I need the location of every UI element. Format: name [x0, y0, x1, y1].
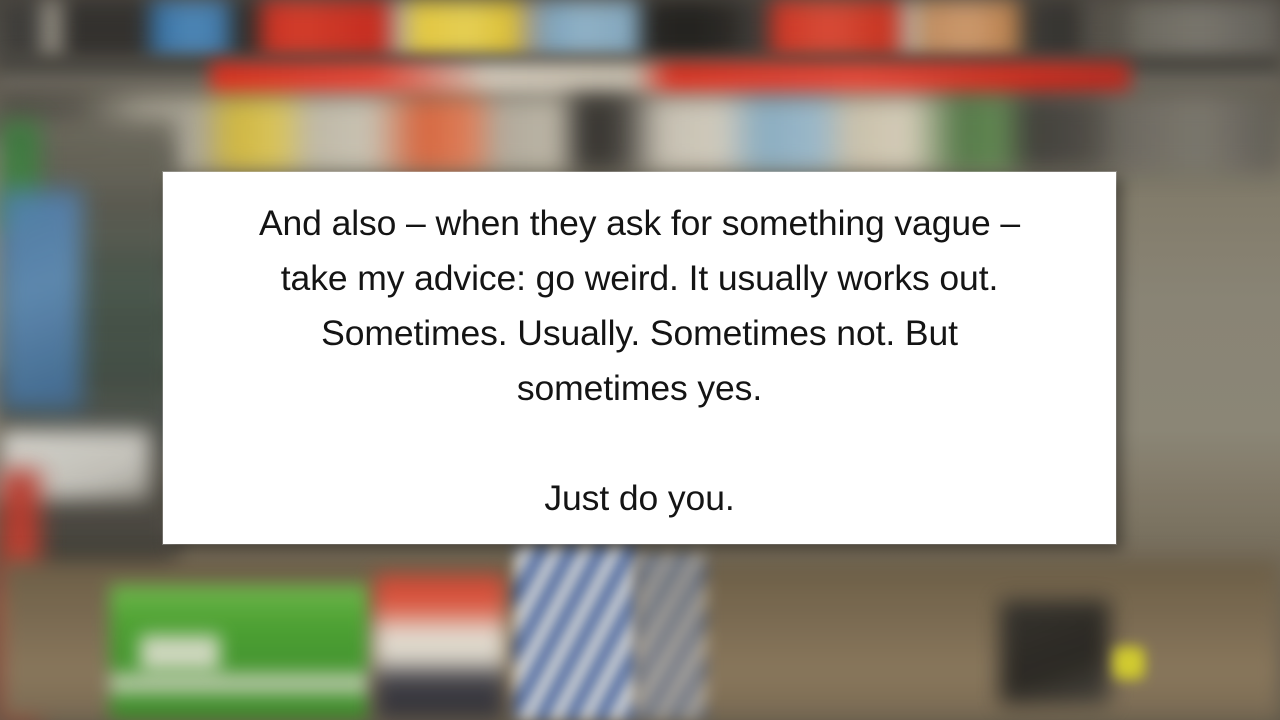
dark-floor-object	[1000, 600, 1110, 705]
right-blue-product	[0, 190, 82, 410]
left-wall-panel	[0, 140, 40, 520]
yellow-floor-item	[1112, 645, 1146, 681]
green-carton-box	[110, 585, 370, 720]
right-red-product	[0, 470, 40, 720]
left-wooden-post	[0, 370, 32, 670]
screenshot-stage: And also – when they ask for something v…	[0, 0, 1280, 720]
quote-text: And also – when they ask for something v…	[191, 196, 1088, 526]
right-green-product	[0, 120, 40, 230]
blue-striped-endcap-2	[636, 552, 706, 720]
shelf-divider-rail	[0, 58, 1280, 84]
mid-shelf-merchandise-row	[0, 96, 1280, 172]
quote-card: And also – when they ask for something v…	[163, 172, 1116, 544]
right-shelving-unit	[0, 120, 175, 590]
red-price-rail	[210, 62, 1130, 96]
left-shelf-blue-products	[30, 400, 165, 460]
green-carton-label	[140, 635, 220, 671]
top-shelf-signage-row	[0, 0, 1280, 58]
right-white-product	[0, 430, 150, 500]
left-shelving-unit	[28, 150, 168, 650]
store-floor	[0, 560, 1280, 720]
red-white-product-stack	[375, 575, 505, 720]
blue-striped-endcap	[515, 545, 635, 720]
